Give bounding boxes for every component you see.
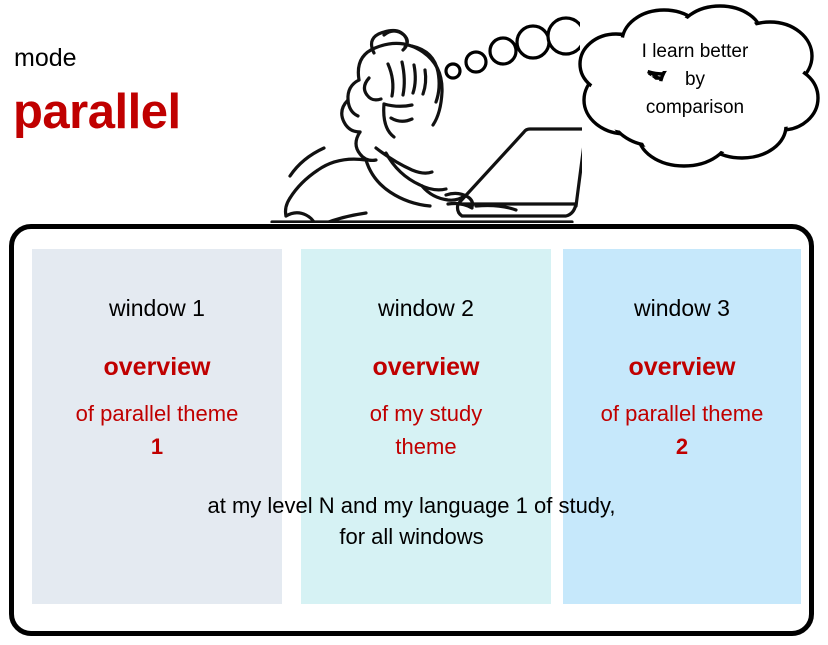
window-panel-2-title: window 2 — [301, 297, 551, 320]
window-panel-2-subline1: of my study — [370, 401, 482, 426]
window-panel-2-subtext: of my studytheme — [295, 397, 557, 463]
thought-dots-svg — [440, 12, 580, 84]
window-panel-3[interactable]: window 3 overview of parallel theme2 — [563, 249, 801, 604]
window-panel-3-title: window 3 — [563, 297, 801, 320]
mode-label: mode — [14, 46, 77, 71]
window-panel-1-heading: overview — [32, 355, 282, 380]
window-panel-2-subline2: theme — [395, 434, 456, 459]
window-panel-1-title: window 1 — [32, 297, 282, 320]
thought-bubble-text: I learn better by comparison — [600, 38, 790, 122]
window-panel-3-subtext: of parallel theme2 — [557, 397, 807, 463]
window-panel-1-subline1: of parallel theme — [76, 401, 239, 426]
window-panel-1-subline2: 1 — [151, 434, 163, 459]
window-panel-1-subtext: of parallel theme1 — [26, 397, 288, 463]
window-panel-2[interactable]: window 2 overview of my studytheme — [301, 249, 551, 604]
window-panel-1[interactable]: window 1 overview of parallel theme1 — [32, 249, 282, 604]
mode-value: parallel — [13, 88, 181, 137]
window-panel-3-subline2: 2 — [676, 434, 688, 459]
windows-container: window 1 overview of parallel theme1 win… — [9, 224, 814, 636]
window-panel-3-heading: overview — [563, 355, 801, 380]
thought-dots — [440, 12, 580, 84]
window-panel-2-heading: overview — [301, 355, 551, 380]
window-panel-3-subline1: of parallel theme — [601, 401, 764, 426]
